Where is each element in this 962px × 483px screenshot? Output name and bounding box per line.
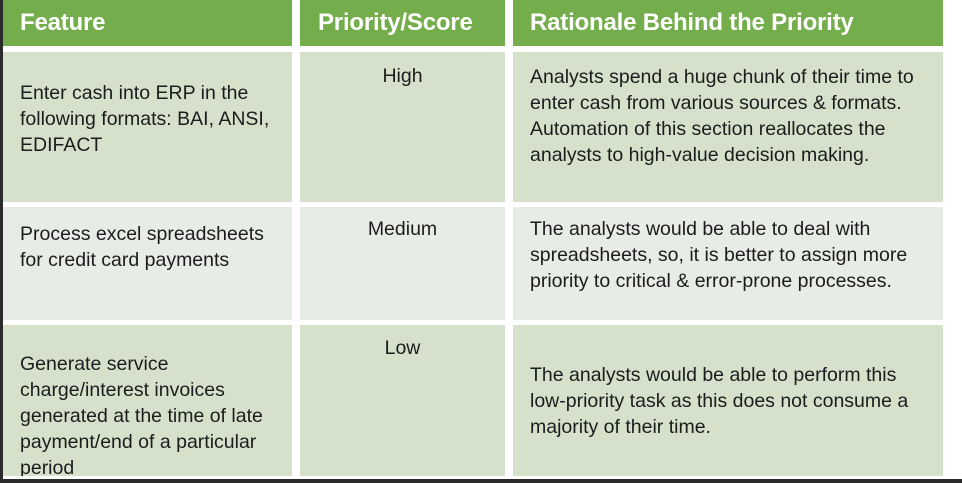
cell-rationale: The analysts would be able to deal with … (513, 207, 943, 320)
cell-feature: Enter cash into ERP in the following for… (3, 52, 292, 202)
table-row: Generate service charge/interest invoice… (3, 325, 943, 476)
priority-value: Medium (310, 207, 495, 242)
cell-feature-text: Process excel spreadsheets for credit ca… (20, 207, 278, 273)
cell-feature: Process excel spreadsheets for credit ca… (3, 207, 292, 320)
column-divider (505, 52, 513, 202)
cell-feature-text: Generate service charge/interest invoice… (20, 325, 278, 476)
cell-priority: Low (300, 325, 505, 476)
column-header-feature[interactable]: Feature (3, 0, 292, 46)
column-divider (505, 0, 513, 46)
cell-priority: High (300, 52, 505, 202)
cell-rationale: The analysts would be able to perform th… (513, 325, 943, 476)
priority-value: Low (310, 325, 495, 361)
column-divider (505, 207, 513, 320)
column-divider (292, 207, 300, 320)
column-divider (292, 52, 300, 202)
document-page: Feature Priority/Score Rationale Behind … (0, 0, 962, 483)
column-header-rationale[interactable]: Rationale Behind the Priority (513, 0, 943, 46)
cell-feature-text: Enter cash into ERP in the following for… (20, 52, 278, 158)
column-divider (292, 0, 300, 46)
cell-rationale: Analysts spend a huge chunk of their tim… (513, 52, 943, 202)
table-row: Enter cash into ERP in the following for… (3, 52, 943, 202)
table-header-row: Feature Priority/Score Rationale Behind … (3, 0, 943, 46)
cell-rationale-text: The analysts would be able to deal with … (530, 207, 931, 294)
column-divider (292, 325, 300, 476)
cell-priority: Medium (300, 207, 505, 320)
column-header-priority-score[interactable]: Priority/Score (300, 0, 505, 46)
table-row: Process excel spreadsheets for credit ca… (3, 207, 943, 320)
feature-priority-table: Feature Priority/Score Rationale Behind … (3, 0, 943, 479)
page-bottom-border (0, 479, 962, 483)
column-divider (505, 325, 513, 476)
cell-feature: Generate service charge/interest invoice… (3, 325, 292, 476)
cell-rationale-text: The analysts would be able to perform th… (530, 362, 931, 440)
priority-value: High (310, 52, 495, 89)
cell-rationale-text: Analysts spend a huge chunk of their tim… (530, 52, 931, 168)
